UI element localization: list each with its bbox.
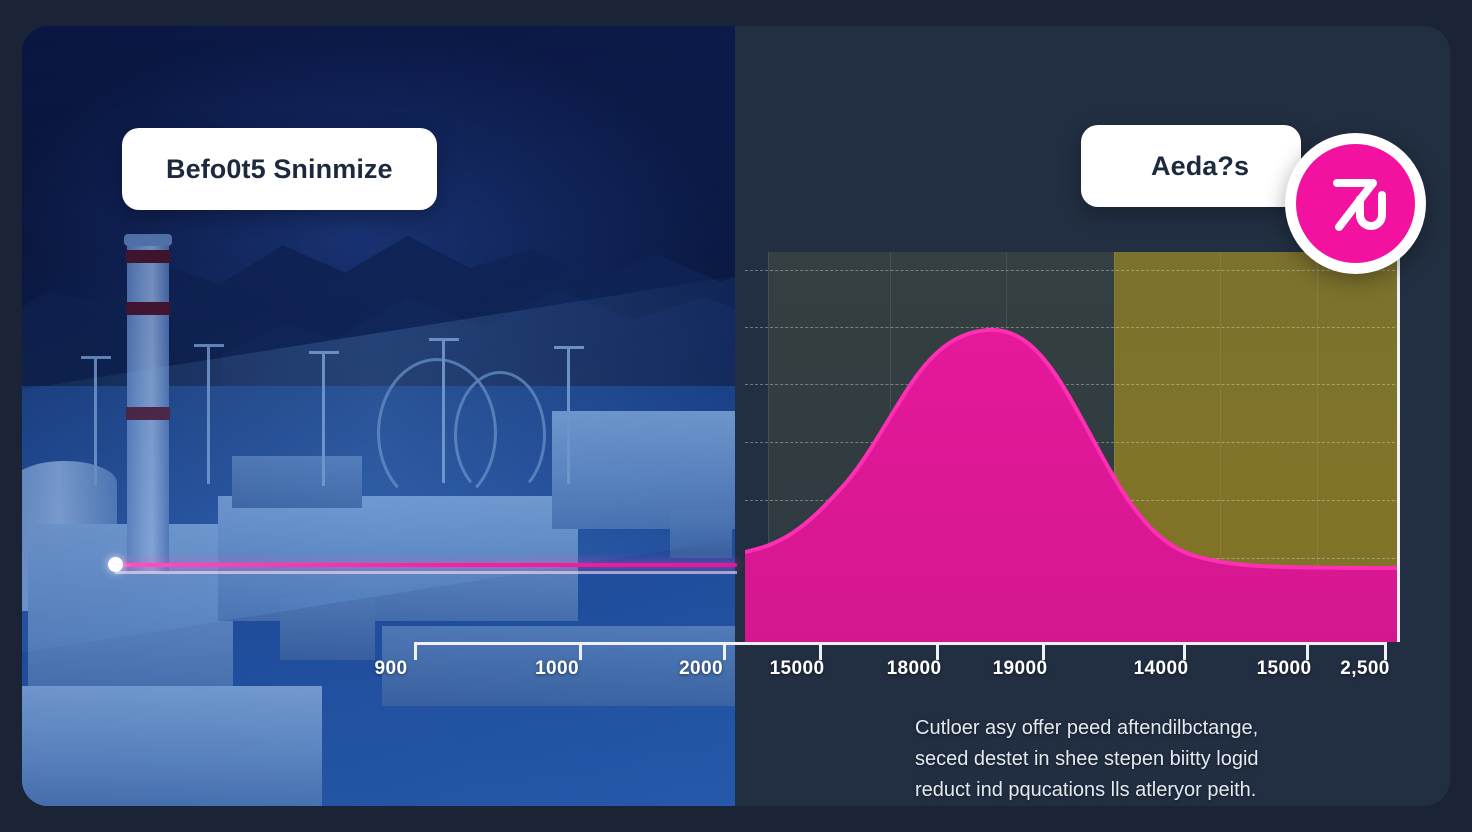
- x-axis-line: [414, 642, 1387, 645]
- comparison-card: 900 1000 2000 15000 18000 19000 14000 15…: [22, 26, 1450, 806]
- axis-tick-label: 2000: [679, 658, 723, 680]
- axis-tick-label: 19000: [993, 658, 1048, 680]
- axis-tick-label: 18000: [887, 658, 942, 680]
- axis-tick-label: 1000: [535, 658, 579, 680]
- caption-line: reduct ind pqucations lls atleryor peith…: [915, 775, 1385, 806]
- chart-plot-area: [745, 252, 1400, 642]
- screenshot-root: 900 1000 2000 15000 18000 19000 14000 15…: [0, 0, 1472, 832]
- axis-tick-label: 2,500: [1340, 658, 1390, 680]
- brand-badge-circle: [1296, 144, 1415, 263]
- after-label-pill[interactable]: Aeda?s: [1081, 125, 1301, 207]
- x-axis-tick-labels: 900 1000 2000 15000 18000 19000 14000 15…: [22, 658, 1450, 692]
- distribution-area-chart: [745, 252, 1400, 642]
- axis-tick-label: 900: [375, 658, 408, 680]
- trendline-start-dot: [108, 557, 123, 572]
- axis-tick-label: 15000: [770, 658, 825, 680]
- caption-line: Cutloer asy offer peed aftendilbctange,: [915, 713, 1385, 744]
- after-label-text: Aeda?s: [1151, 151, 1249, 182]
- caption-line: seced destet in shee stepen biitty logid: [915, 744, 1385, 775]
- axis-tick-label: 15000: [1257, 658, 1312, 680]
- before-label-text: Befo0t5 Sninmize: [166, 154, 393, 185]
- before-label-pill[interactable]: Befo0t5 Sninmize: [122, 128, 437, 210]
- chart-caption: Cutloer asy offer peed aftendilbctange, …: [915, 713, 1385, 806]
- axis-tick-label: 14000: [1134, 658, 1189, 680]
- brand-7u-icon: [1313, 161, 1399, 247]
- brand-badge[interactable]: [1285, 133, 1426, 274]
- plot-right-border: [1397, 252, 1400, 642]
- trendline-underline: [115, 571, 737, 574]
- trendline-magenta: [115, 563, 737, 567]
